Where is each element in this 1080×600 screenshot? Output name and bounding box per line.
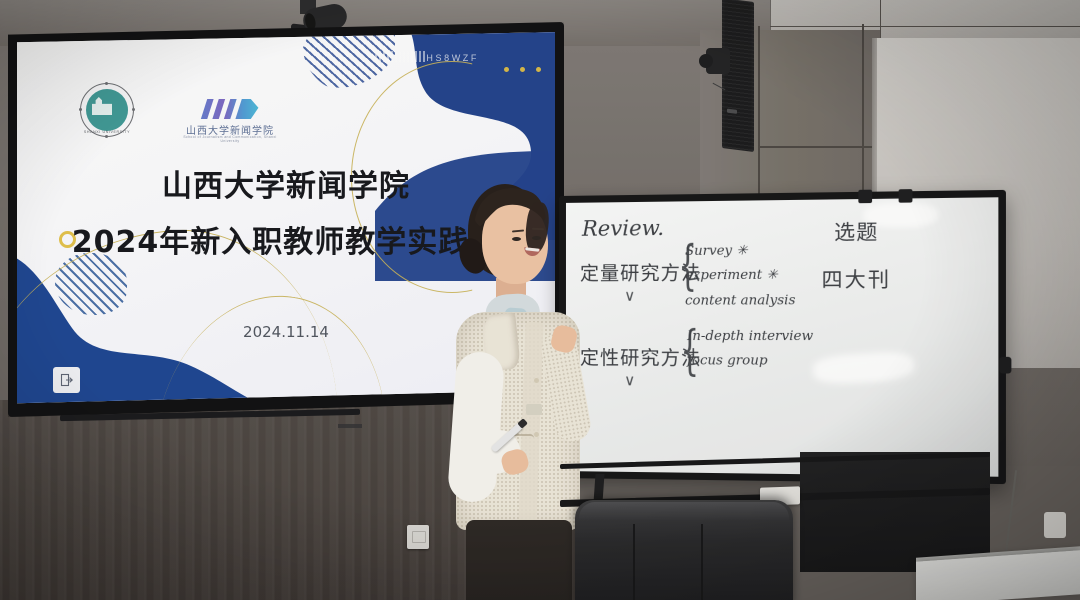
- eye: [512, 237, 521, 241]
- chair-seam: [633, 524, 635, 600]
- office-chair[interactable]: [575, 500, 793, 600]
- decor-hatch-top-right: [303, 31, 395, 95]
- power-outlet: [407, 525, 429, 549]
- whiteboard-item-0-0: Survey ✳: [685, 243, 748, 259]
- wall-panel-seam: [758, 146, 876, 148]
- seal-text: SHANXI UNIVERSITY: [81, 130, 133, 134]
- ceiling-tile-seam: [880, 0, 881, 40]
- whiteboard-knob[interactable]: [999, 357, 1011, 374]
- whiteboard-clip: [899, 189, 913, 203]
- whiteboard-item-1-1: focus group: [687, 353, 767, 368]
- slide-watermark: HS8WZF: [426, 53, 479, 63]
- watermark-hatch: [375, 51, 427, 62]
- whiteboard-item-0-2: content analysis: [685, 293, 795, 309]
- mobile-whiteboard[interactable]: Review. 定量研究方法 ∨ { Survey ✳ experiment ✳…: [559, 190, 1006, 484]
- ceiling-tile-seam: [770, 26, 1080, 27]
- whiteboard-item-0-1: experiment ✳: [685, 268, 778, 284]
- whiteboard-clip: [858, 190, 872, 204]
- whiteboard-surface[interactable]: Review. 定量研究方法 ∨ { Survey ✳ experiment ✳…: [566, 197, 998, 476]
- decor-dot-row: [504, 67, 541, 72]
- whiteboard-item-1-0: In-depth interview: [687, 329, 813, 344]
- chair-seam: [701, 524, 703, 600]
- school-logo-mark: [197, 99, 261, 119]
- tripod-leg: [1005, 470, 1017, 554]
- vest-button: [534, 378, 539, 383]
- name-badge: [526, 404, 542, 415]
- classroom-scene: HS8WZF SHANXI UNIVERSITY: [0, 0, 1080, 600]
- whiteboard-note-1: 四大刊: [822, 263, 892, 293]
- vest-button: [534, 432, 539, 437]
- whiteboard-note-0: 选题: [834, 215, 878, 245]
- exit-glyph: [60, 373, 74, 387]
- whiteboard-glare: [812, 350, 915, 385]
- eye: [532, 236, 541, 240]
- whiteboard-arrow-0: ∨: [624, 287, 635, 305]
- chair-headrest: [579, 502, 789, 520]
- school-logo-en: School of Journalism and Communication, …: [177, 135, 283, 143]
- school-logo: 山西大学新闻学院 School of Journalism and Commun…: [177, 99, 283, 145]
- skirt: [466, 520, 572, 600]
- cup: [1044, 512, 1066, 538]
- whiteboard-arrow-1: ∨: [624, 371, 635, 389]
- exit-icon[interactable]: [53, 367, 80, 393]
- university-seal-logo: SHANXI UNIVERSITY: [80, 83, 134, 137]
- display-brand-logo: [338, 424, 362, 428]
